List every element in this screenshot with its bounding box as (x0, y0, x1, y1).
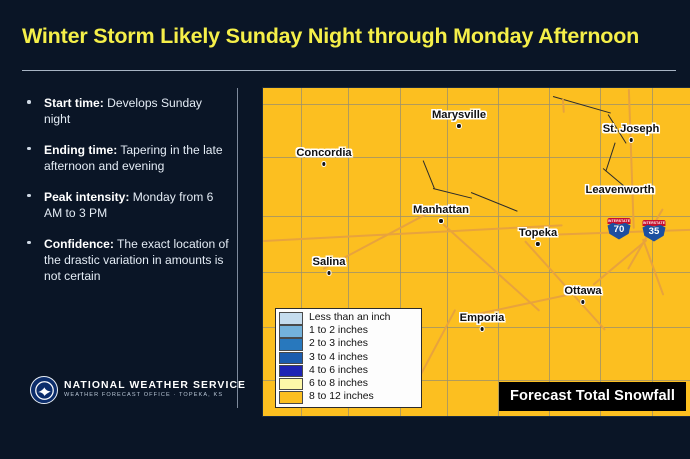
interstate-shield-70: INTERSTATE 70 (607, 218, 632, 240)
city-dot-icon (322, 162, 325, 165)
county-gridline (600, 88, 601, 416)
interstate-shield-35: INTERSTATE 35 (642, 220, 667, 242)
snowfall-legend: Less than an inch 1 to 2 inches 2 to 3 i… (275, 308, 422, 408)
city-marker: Salina (313, 257, 346, 275)
city-label: Manhattan (413, 205, 469, 216)
city-dot-icon (327, 271, 330, 274)
city-label: Marysville (432, 110, 486, 121)
city-label: Concordia (296, 148, 351, 159)
snowfall-forecast-map[interactable]: Marysville Concordia St. Joseph Leavenwo… (262, 87, 690, 417)
slide-root: Winter Storm Likely Sunday Night through… (0, 0, 690, 459)
map-title-text: Forecast Total Snowfall (510, 388, 675, 404)
bullet-dot-icon (27, 241, 31, 245)
legend-item: 6 to 8 inches (279, 378, 417, 391)
nws-logo-line2: WEATHER FORECAST OFFICE · TOPEKA, KS (64, 393, 246, 399)
list-item-label: Peak intensity: (44, 190, 129, 204)
city-label: Ottawa (564, 286, 601, 297)
county-gridline (447, 88, 448, 416)
list-item: Peak intensity: Monday from 6 AM to 3 PM (22, 190, 230, 222)
city-marker: Leavenworth (585, 185, 654, 196)
legend-item: 4 to 6 inches (279, 364, 417, 377)
city-label: Topeka (519, 228, 557, 239)
city-label: Salina (313, 257, 346, 268)
legend-swatch (279, 352, 303, 365)
city-marker: Topeka (519, 228, 557, 246)
interstate-shield-number: 35 (643, 225, 666, 242)
city-dot-icon (581, 300, 584, 303)
list-item-label: Ending time: (44, 143, 117, 157)
legend-item: 1 to 2 inches (279, 325, 417, 338)
list-item: Confidence: The exact location of the dr… (22, 237, 230, 285)
noaa-seagull-icon (30, 376, 58, 404)
legend-swatch (279, 378, 303, 391)
city-label: Leavenworth (585, 185, 654, 196)
legend-item: 3 to 4 inches (279, 351, 417, 364)
list-item: Start time: Develops Sunday night (22, 96, 230, 128)
interstate-shield-number: 70 (608, 223, 631, 240)
county-gridline (263, 104, 690, 105)
legend-label: Less than an inch (309, 313, 390, 323)
map-title-banner: Forecast Total Snowfall (499, 382, 686, 411)
city-dot-icon (536, 242, 539, 245)
legend-item: 8 to 12 inches (279, 391, 417, 404)
interstate-shield-banner: INTERSTATE (643, 220, 666, 226)
legend-item: 2 to 3 inches (279, 338, 417, 351)
city-dot-icon (457, 124, 460, 127)
legend-label: 4 to 6 inches (309, 366, 368, 376)
interstate-shield-banner: INTERSTATE (608, 218, 631, 224)
legend-label: 8 to 12 inches (309, 392, 374, 402)
legend-swatch (279, 365, 303, 378)
city-marker: Manhattan (413, 205, 469, 223)
city-dot-icon (629, 138, 632, 141)
city-marker: Emporia (460, 313, 505, 331)
legend-swatch (279, 312, 303, 325)
city-marker: Concordia (296, 148, 351, 166)
bullet-dot-icon (27, 100, 31, 104)
city-dot-icon (480, 327, 483, 330)
list-item-label: Confidence: (44, 237, 114, 251)
legend-swatch (279, 338, 303, 351)
map-canvas: Marysville Concordia St. Joseph Leavenwo… (263, 88, 690, 416)
bullet-dot-icon (27, 147, 31, 151)
city-label: St. Joseph (603, 124, 660, 135)
county-gridline (498, 88, 499, 416)
legend-label: 6 to 8 inches (309, 379, 368, 389)
legend-label: 2 to 3 inches (309, 339, 368, 349)
list-item: Ending time: Tapering in the late aftern… (22, 143, 230, 175)
city-label: Emporia (460, 313, 505, 324)
nws-logo-text: NATIONAL WEATHER SERVICE WEATHER FORECAS… (64, 381, 246, 399)
legend-swatch (279, 391, 303, 404)
legend-swatch (279, 325, 303, 338)
city-marker: St. Joseph (603, 124, 660, 142)
title-divider (22, 70, 676, 71)
legend-label: 3 to 4 inches (309, 353, 368, 363)
page-title: Winter Storm Likely Sunday Night through… (22, 26, 682, 48)
legend-label: 1 to 2 inches (309, 326, 368, 336)
city-marker: Ottawa (564, 286, 601, 304)
city-dot-icon (439, 219, 442, 222)
list-item-label: Start time: (44, 96, 104, 110)
nws-logo-line1: NATIONAL WEATHER SERVICE (64, 381, 246, 392)
forecast-detail-list: Start time: Develops Sunday night Ending… (22, 96, 230, 300)
legend-item: Less than an inch (279, 312, 417, 325)
city-marker: Marysville (432, 110, 486, 128)
content-vertical-divider (237, 88, 238, 408)
county-gridline (549, 88, 550, 416)
nws-logo: NATIONAL WEATHER SERVICE WEATHER FORECAS… (30, 376, 246, 404)
county-gridline (263, 216, 690, 217)
bullet-dot-icon (27, 194, 31, 198)
